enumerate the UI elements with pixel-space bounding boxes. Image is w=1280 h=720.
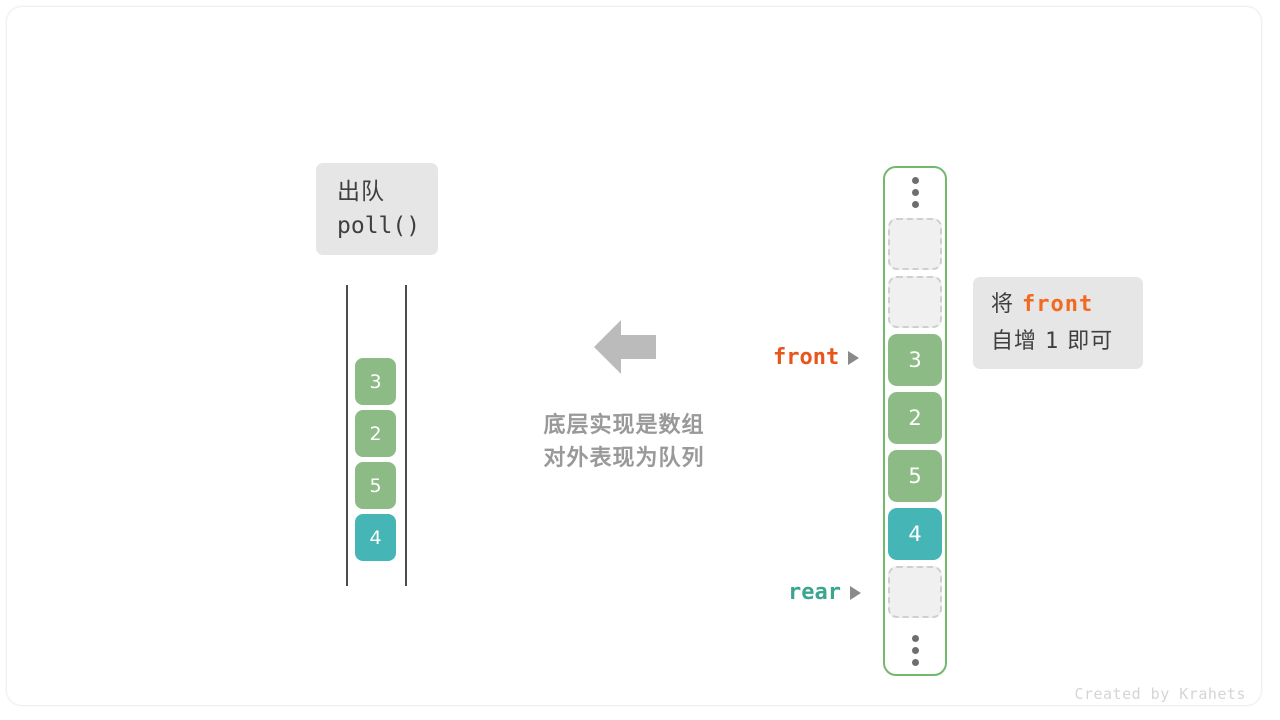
diagram-canvas: 出队 poll() 3 2 5 4 底层实现是数组 对外表现为队列 3 2 5 … (0, 0, 1280, 720)
queue-cell: 2 (355, 410, 396, 457)
note-box: 将 front 自增 1 即可 (973, 277, 1143, 369)
left-arrow-icon (594, 320, 656, 374)
rear-pointer: rear (788, 580, 861, 605)
array-cell: 2 (888, 392, 942, 444)
poll-label-box: 出队 poll() (316, 163, 438, 255)
array-cell-empty (888, 566, 942, 618)
array-cell: 3 (888, 334, 942, 386)
queue-left-bar (346, 285, 348, 586)
array-cell-empty (888, 276, 942, 328)
front-pointer: front (773, 345, 859, 370)
note-line2-b: 即可 (1067, 329, 1113, 354)
poll-label-chinese: 出队 (337, 175, 438, 209)
ellipsis-top-icon (912, 166, 919, 218)
array-cell-highlight: 4 (888, 508, 942, 560)
ellipsis-bottom-icon (912, 624, 919, 676)
front-pointer-label: front (773, 345, 839, 370)
note-keyword: front (1022, 292, 1093, 317)
poll-label-code: poll() (337, 209, 438, 243)
credit-text: Created by Krahets (1074, 685, 1246, 703)
array-cell-list: 3 2 5 4 (888, 166, 942, 676)
center-caption: 底层实现是数组 对外表现为队列 (498, 409, 750, 475)
note-prefix: 将 (991, 292, 1014, 317)
queue-cell-list: 3 2 5 4 (355, 358, 396, 566)
note-line2-number: 1 (1045, 329, 1059, 354)
queue-right-bar (405, 285, 407, 586)
rear-pointer-label: rear (788, 580, 841, 605)
pointer-triangle-icon (850, 586, 861, 600)
note-line-2: 自增 1 即可 (991, 323, 1143, 360)
array-cell-empty (888, 218, 942, 270)
note-line-1: 将 front (991, 286, 1143, 323)
caption-line-1: 底层实现是数组 (498, 409, 750, 442)
queue-cell-highlight: 4 (355, 514, 396, 561)
pointer-triangle-icon (848, 351, 859, 365)
queue-cell: 5 (355, 462, 396, 509)
note-line2-a: 自增 (991, 329, 1037, 354)
array-cell: 5 (888, 450, 942, 502)
queue-cell: 3 (355, 358, 396, 405)
caption-line-2: 对外表现为队列 (498, 442, 750, 475)
